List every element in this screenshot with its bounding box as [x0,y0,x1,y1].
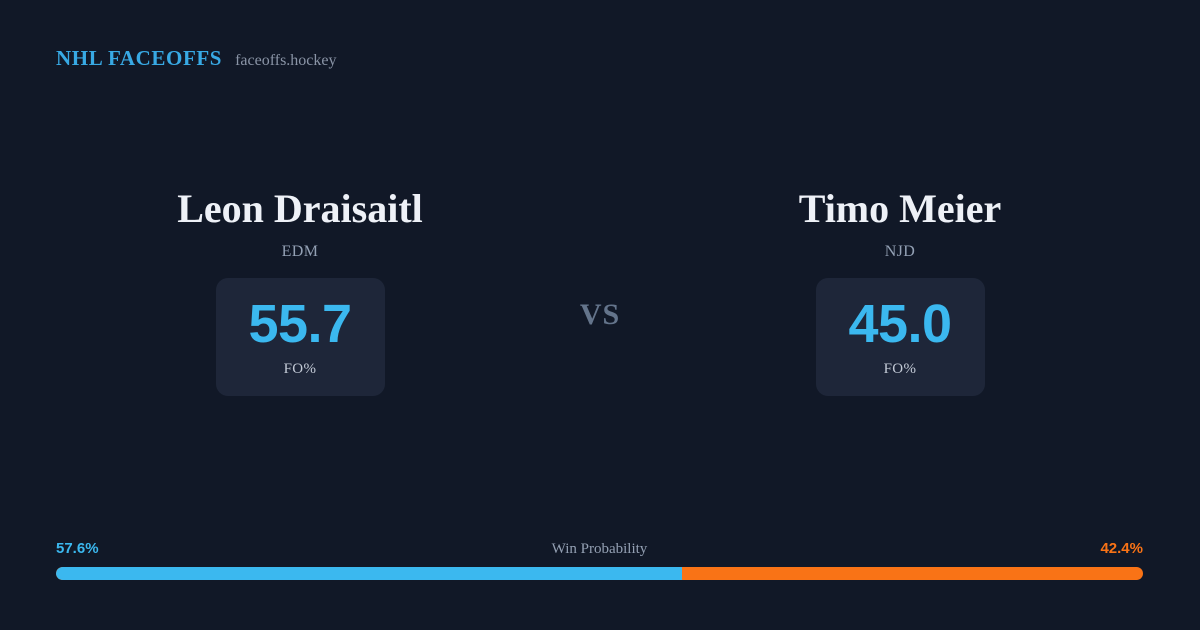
stat-value-left: 55.7 [248,297,351,351]
stat-card-left: 55.7 FO% [216,278,385,396]
team-abbr-right: NJD [885,243,916,261]
player-panel-left: Leon Draisaitl EDM 55.7 FO% [65,186,535,396]
stat-label-left: FO% [284,361,317,378]
player-name-right: Timo Meier [799,186,1002,232]
player-panel-right: Timo Meier NJD 45.0 FO% [665,186,1135,396]
win-probability-title: Win Probability [552,541,648,558]
brand-title: NHL FACEOFFS [56,46,222,71]
stat-label-right: FO% [884,361,917,378]
matchup-section: Leon Draisaitl EDM 55.7 FO% VS Timo Meie… [0,186,1200,396]
win-probability-section: 57.6% Win Probability 42.4% [56,540,1143,580]
page-header: NHL FACEOFFS faceoffs.hockey [56,46,337,71]
player-name-left: Leon Draisaitl [177,186,423,232]
stat-card-right: 45.0 FO% [816,278,985,396]
team-abbr-left: EDM [282,243,319,261]
win-probability-left-pct: 57.6% [56,540,99,557]
win-probability-right-pct: 42.4% [1100,540,1143,557]
win-probability-bar-left-fill [56,567,682,580]
stat-value-right: 45.0 [848,297,951,351]
vs-divider: VS [535,186,665,332]
win-probability-labels: 57.6% Win Probability 42.4% [56,540,1143,558]
win-probability-bar [56,567,1143,580]
vs-label: VS [580,298,620,332]
site-domain: faceoffs.hockey [235,52,336,70]
